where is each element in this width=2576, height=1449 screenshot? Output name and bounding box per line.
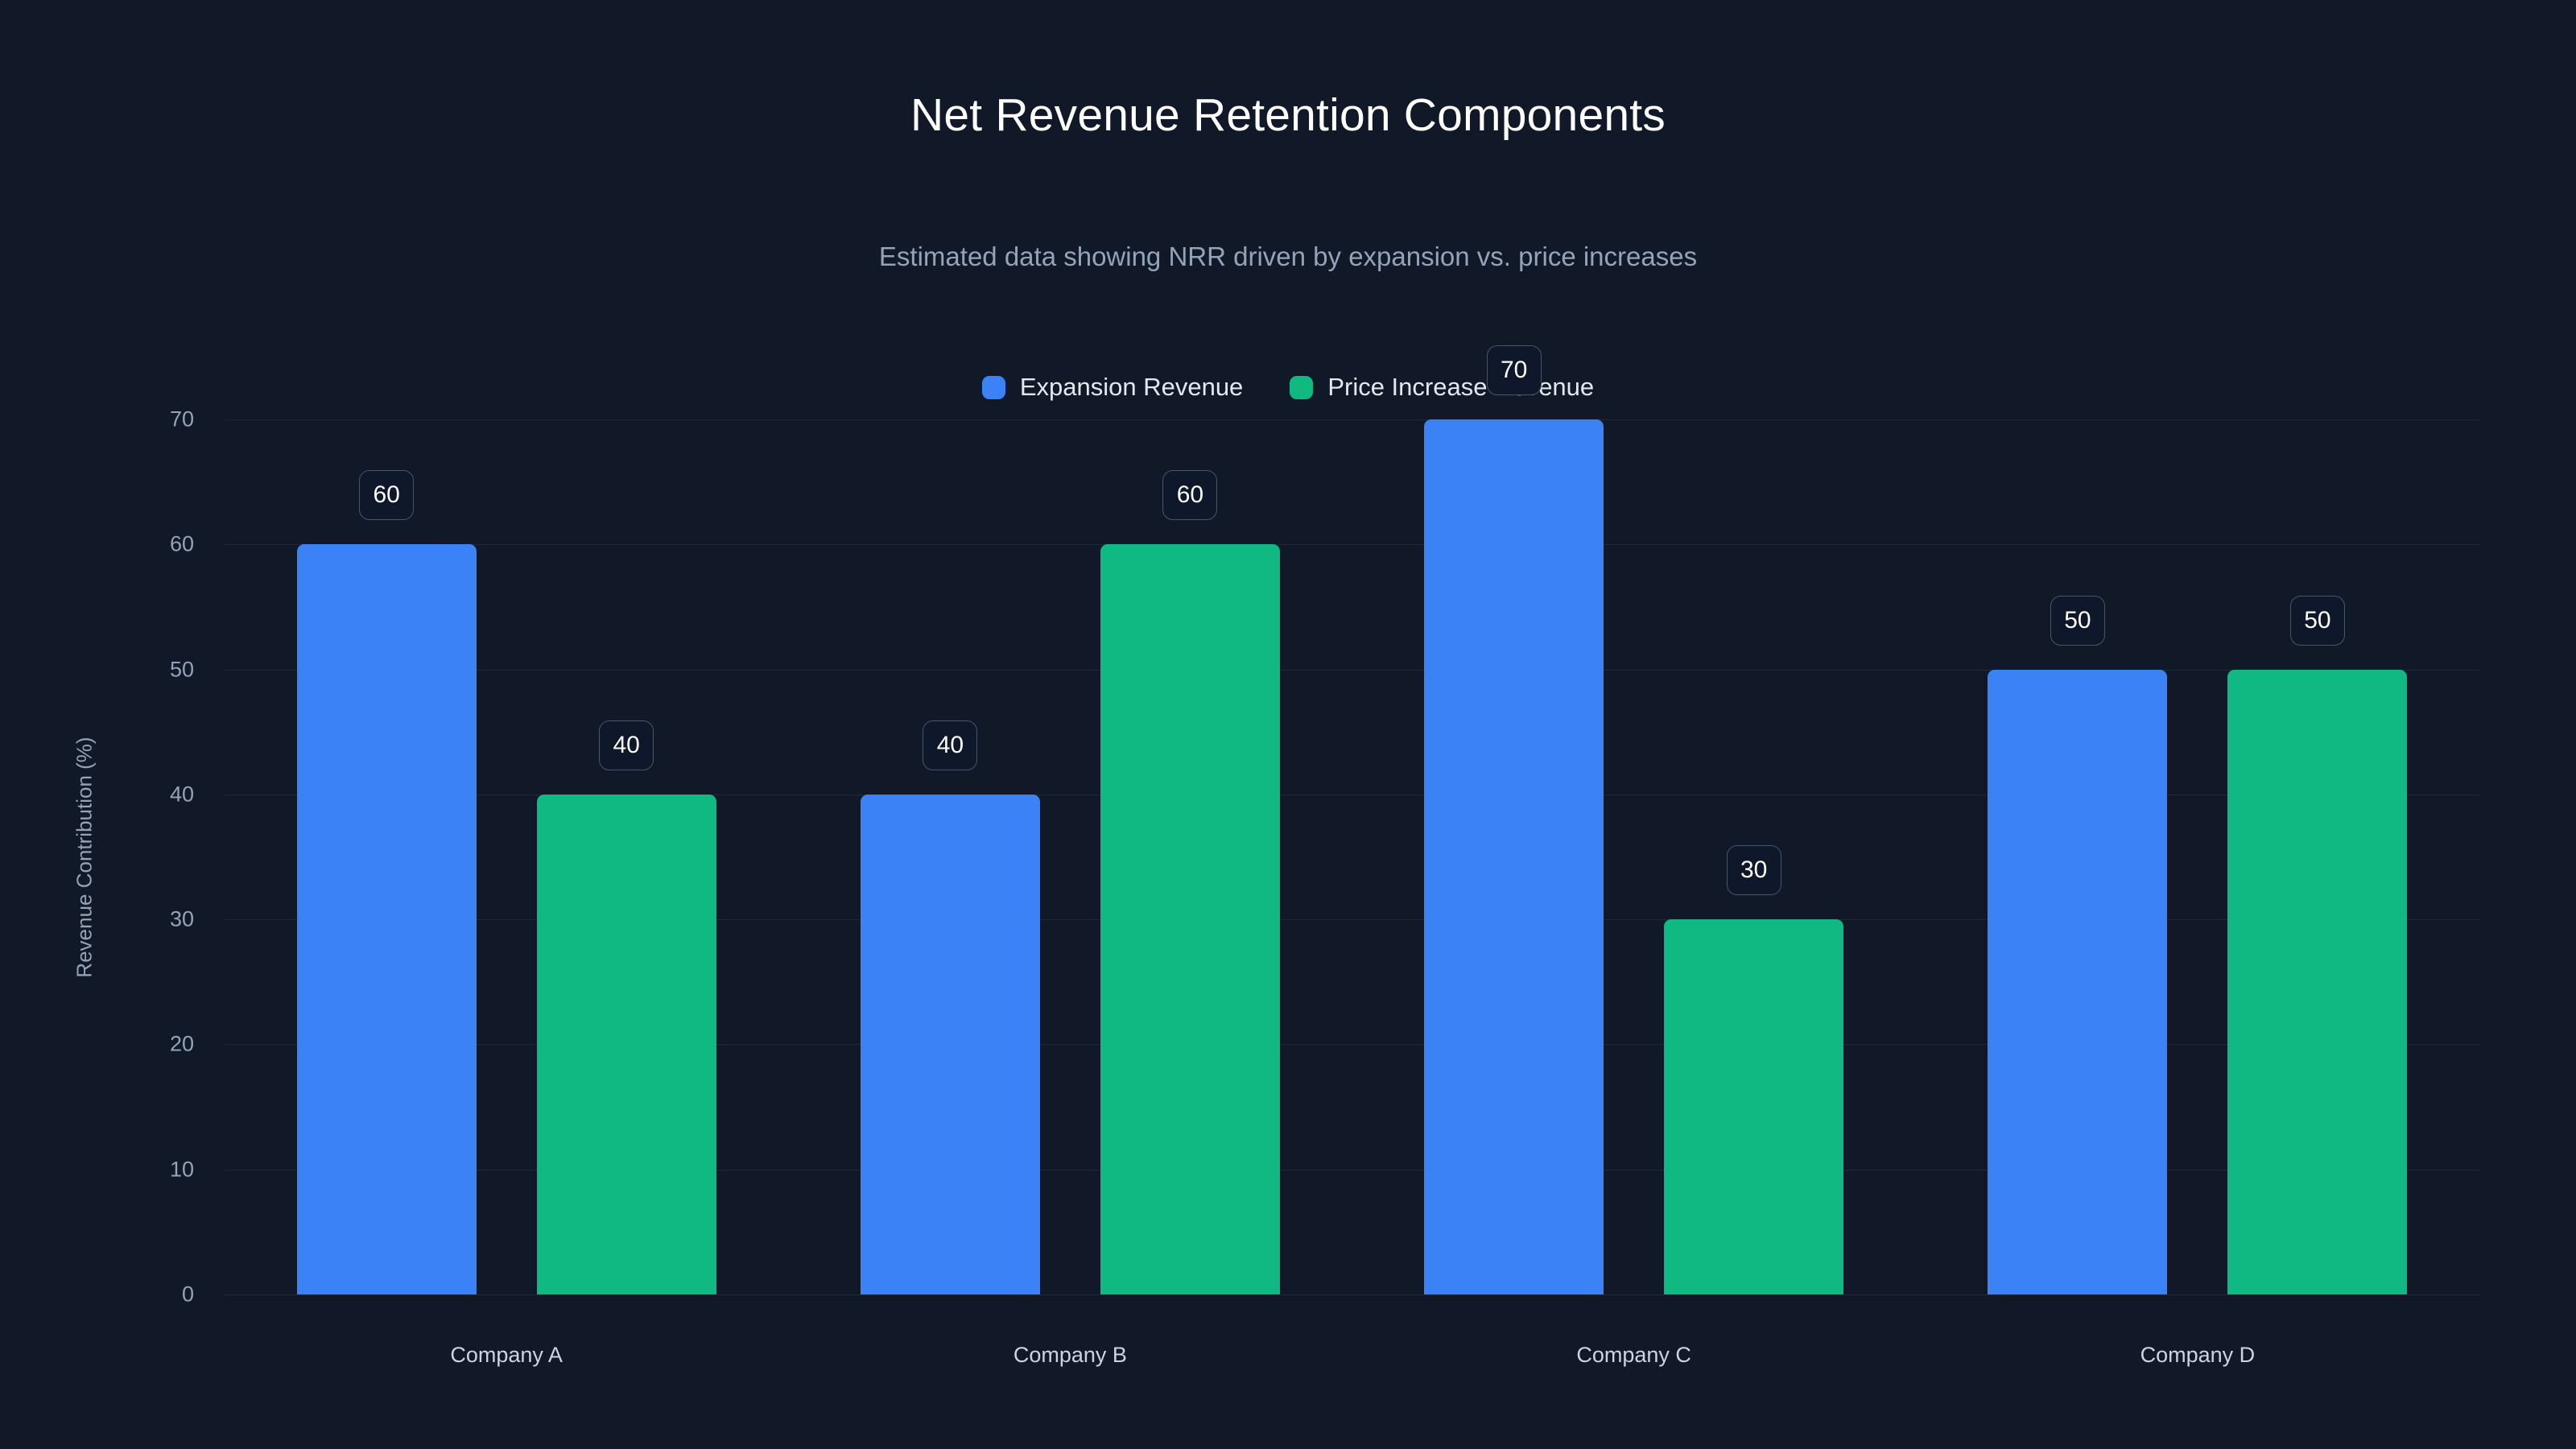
bar-value-label: 40: [923, 720, 977, 770]
y-axis-tick-labels: 010203040506070: [0, 419, 225, 1294]
gridline: [225, 544, 2479, 545]
legend-swatch-icon: [1290, 376, 1313, 399]
bar-value-label: 30: [1727, 845, 1781, 895]
bar[interactable]: [1100, 544, 1280, 1294]
gridline: [225, 419, 2479, 420]
y-axis-tick-label: 0: [182, 1282, 194, 1307]
legend-item[interactable]: Price Increase Revenue: [1290, 373, 1594, 402]
bar-value-label: 70: [1487, 345, 1542, 395]
y-axis-tick-label: 70: [170, 407, 194, 432]
bar-value-label: 60: [359, 470, 414, 520]
x-axis-tick-label: Company C: [1576, 1343, 1691, 1368]
chart-title: Net Revenue Retention Components: [0, 89, 2576, 142]
y-axis-tick-label: 30: [170, 907, 194, 932]
bar[interactable]: [297, 544, 477, 1294]
x-axis-tick-label: Company B: [1013, 1343, 1127, 1368]
gridline: [225, 1294, 2479, 1295]
legend-label: Expansion Revenue: [1020, 373, 1243, 402]
chart-container: Net Revenue Retention Components Estimat…: [0, 0, 2576, 1449]
y-axis-tick-label: 60: [170, 532, 194, 557]
x-axis-tick-label: Company A: [450, 1343, 563, 1368]
bar[interactable]: [1424, 419, 1604, 1294]
bar[interactable]: [861, 795, 1040, 1294]
bar[interactable]: [2227, 670, 2407, 1294]
bar-value-label: 50: [2050, 596, 2105, 646]
y-axis-tick-label: 50: [170, 657, 194, 682]
x-axis-tick-label: Company D: [2140, 1343, 2256, 1368]
legend-swatch-icon: [982, 376, 1005, 399]
bar-value-label: 50: [2290, 596, 2345, 646]
plot-area: [225, 419, 2479, 1294]
y-axis-tick-label: 10: [170, 1157, 194, 1182]
bar-value-label: 60: [1162, 470, 1217, 520]
legend-item[interactable]: Expansion Revenue: [982, 373, 1243, 402]
y-axis-tick-label: 40: [170, 782, 194, 807]
bar[interactable]: [1988, 670, 2167, 1294]
chart-legend: Expansion RevenuePrice Increase Revenue: [0, 373, 2576, 402]
legend-label: Price Increase Revenue: [1327, 373, 1594, 402]
bar-value-label: 40: [599, 720, 654, 770]
y-axis-tick-label: 20: [170, 1032, 194, 1057]
bar[interactable]: [537, 795, 716, 1294]
chart-subtitle: Estimated data showing NRR driven by exp…: [0, 242, 2576, 272]
bar[interactable]: [1664, 919, 1843, 1294]
